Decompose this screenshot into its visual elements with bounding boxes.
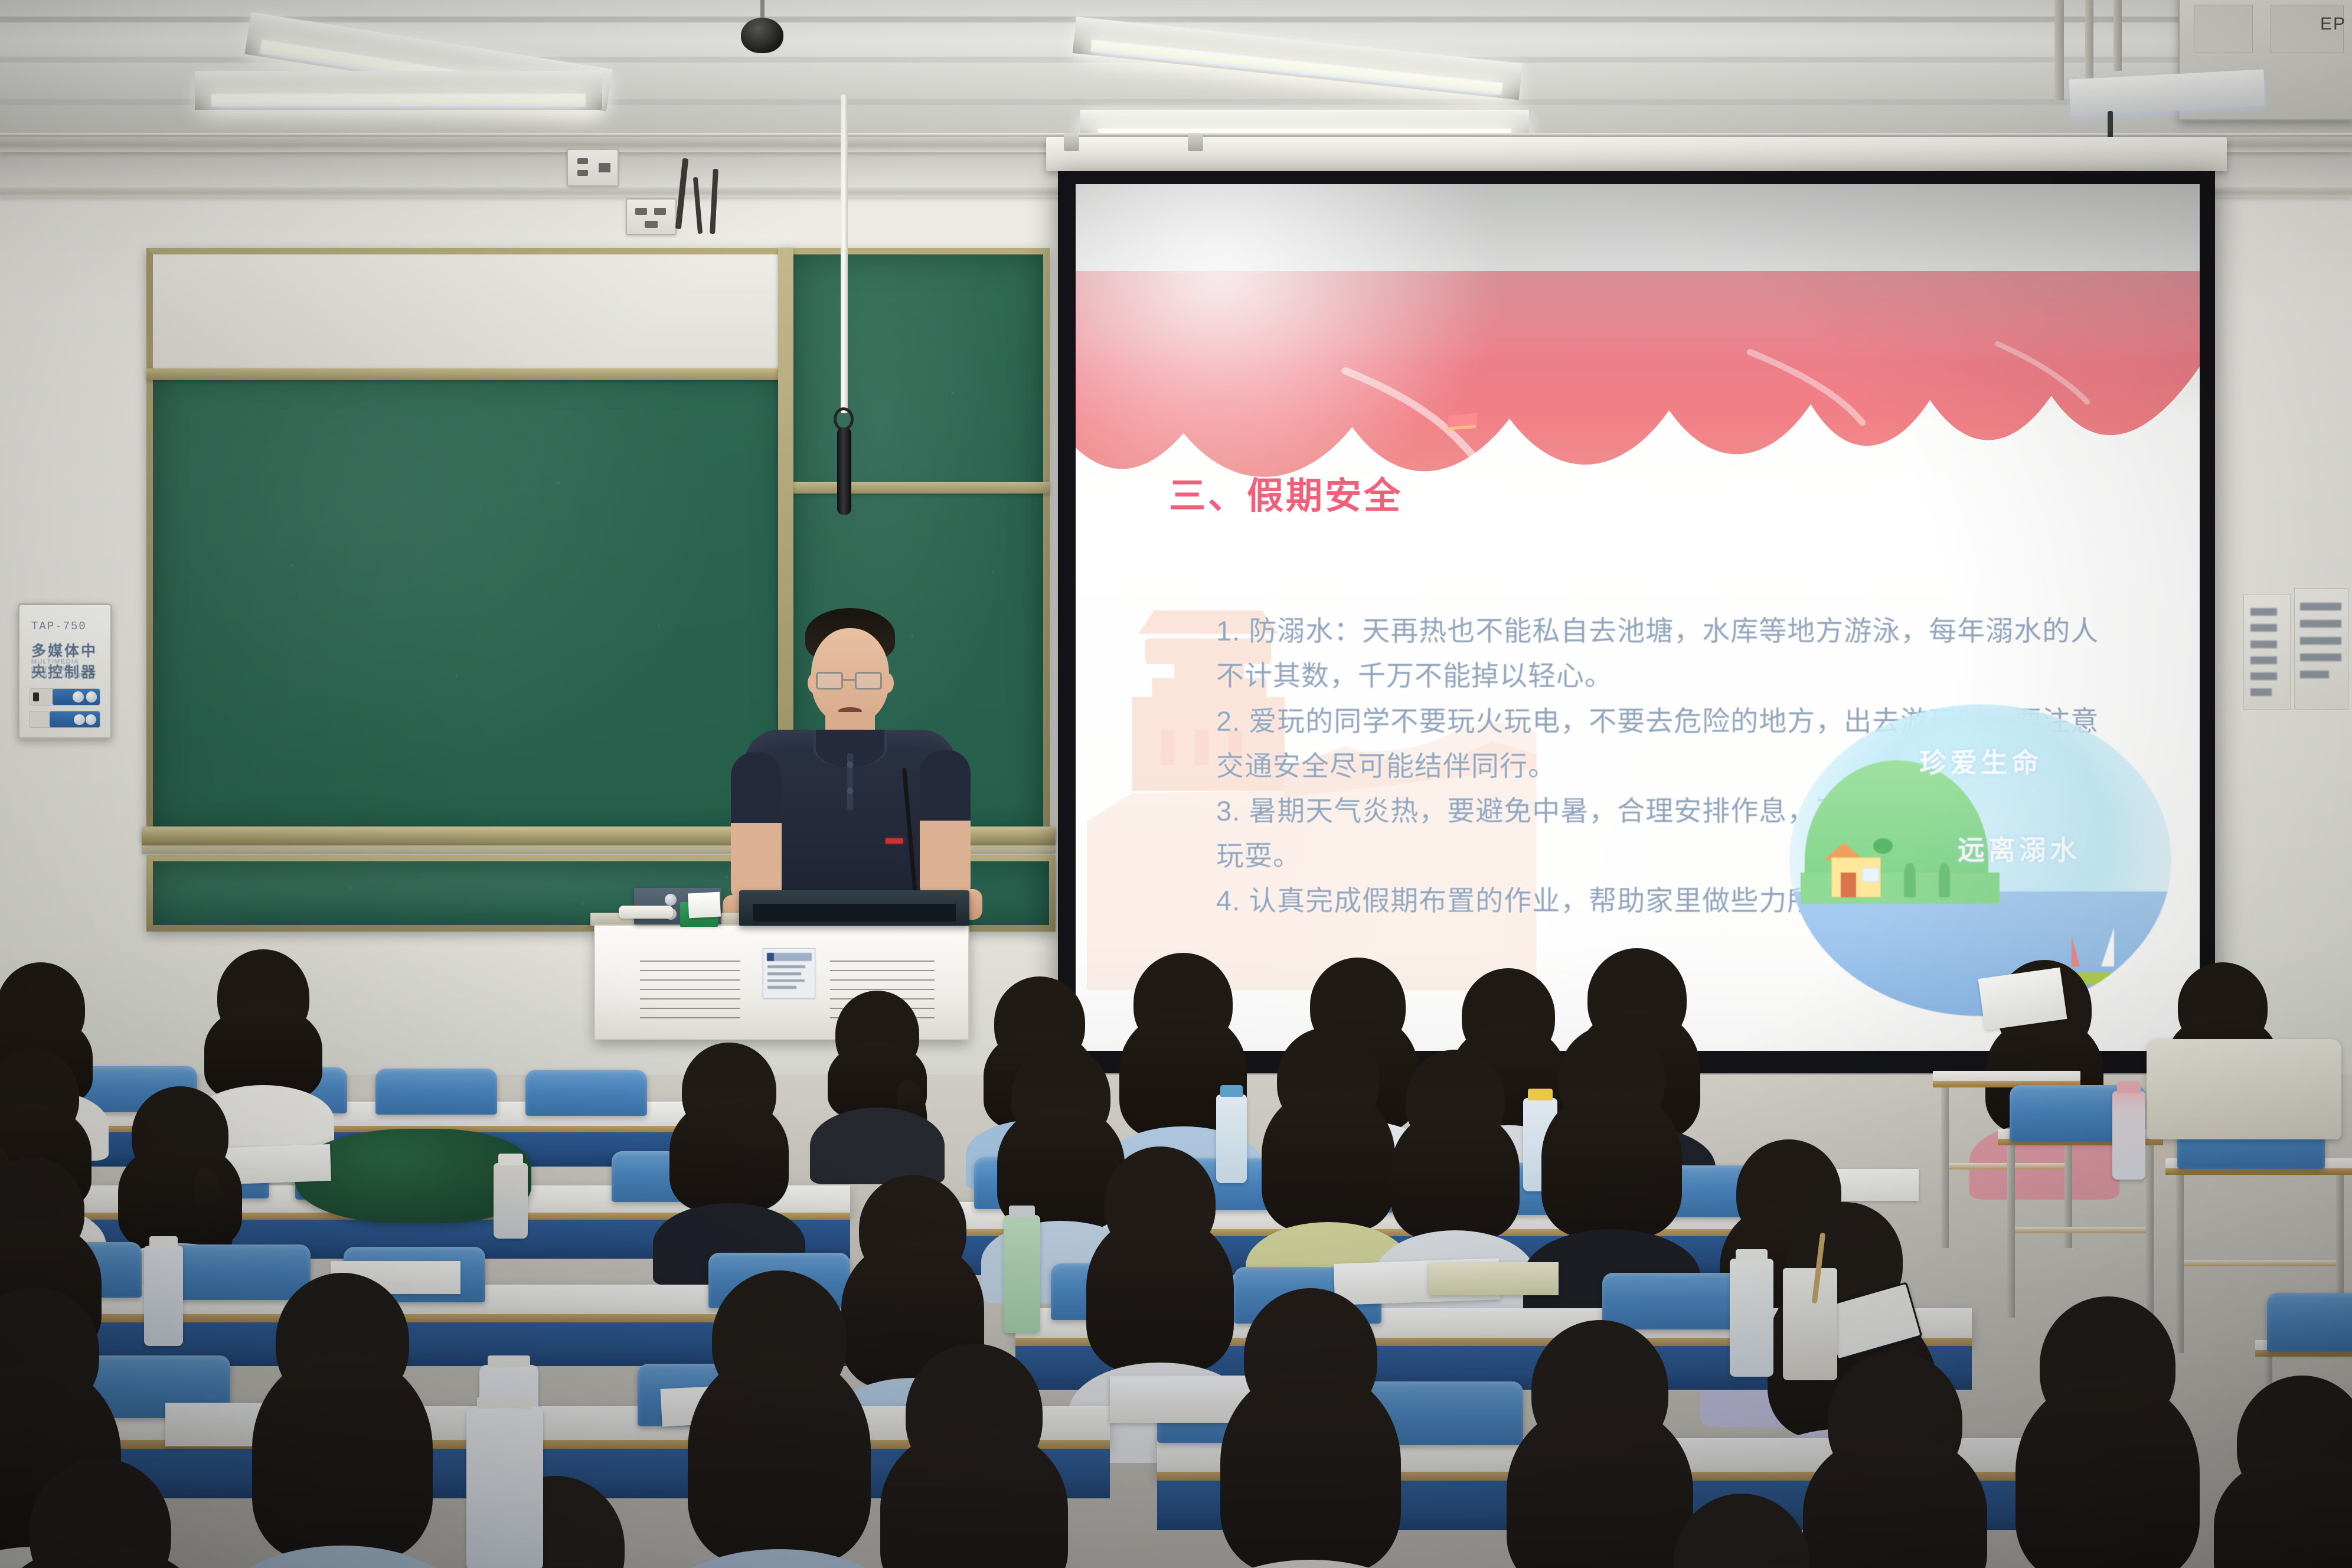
microphone-pole (841, 94, 848, 413)
board-divider (146, 368, 792, 380)
paper-card (688, 892, 721, 919)
screen-housing (1046, 137, 2227, 171)
eyeglasses (816, 672, 882, 690)
slide-body-line-2: 不计其数，千万不能掉以轻心。 (1216, 654, 2099, 698)
wall-notice-left (2243, 594, 2291, 710)
student (1193, 1288, 1429, 1568)
slide-title: 三、假期安全 (1169, 466, 1403, 519)
water-bottle (2112, 1091, 2145, 1180)
water-bottle (144, 1246, 183, 1346)
podium-monitor[interactable] (739, 890, 969, 926)
student (100, 1086, 260, 1263)
projector-brand-label: EP (2320, 14, 2346, 34)
board-eraser (619, 906, 673, 919)
chair[interactable] (375, 1069, 497, 1115)
water-bottle (494, 1163, 528, 1239)
student (1523, 1025, 1700, 1249)
multimedia-control-panel[interactable]: TAP-750 多媒体中央控制器 MULTIMEDIA CENTRAL CONT… (18, 603, 112, 739)
student (850, 1344, 1098, 1568)
control-panel-row-lower[interactable] (30, 711, 100, 728)
podium-asset-label (763, 948, 815, 998)
tote-bag (2147, 1039, 2341, 1139)
camera-mount (760, 0, 765, 20)
ceiling-light (195, 71, 602, 110)
control-panel-row-upper[interactable] (30, 688, 100, 705)
chair[interactable] (2267, 1293, 2352, 1352)
student (0, 1458, 224, 1568)
student (192, 949, 334, 1109)
chalkboard-left-upper (146, 248, 792, 374)
red-flag-icon (1446, 410, 1479, 433)
classroom-scene: TAP-750 多媒体中央控制器 MULTIMEDIA CENTRAL CONT… (0, 0, 2352, 1568)
control-panel-label-en: MULTIMEDIA CENTRAL CONTROLLER (31, 658, 110, 680)
student (2184, 1376, 2352, 1568)
badge-line-1: 珍爱生命 (1919, 741, 2042, 780)
wall-outlet[interactable] (567, 149, 619, 187)
wall-outlet[interactable] (626, 198, 677, 235)
hanging-microphone (837, 427, 851, 515)
security-camera-icon (741, 18, 783, 53)
ceiling-seam (0, 17, 2352, 22)
slide-body-line-1: 1. 防溺水：天再热也不能私自去池塘，水库等地方游泳，每年溺水的人 (1216, 609, 2099, 654)
student (224, 1273, 460, 1568)
board-divider (785, 482, 1050, 494)
water-bottle (466, 1406, 543, 1568)
thermos-bottle (1004, 1215, 1040, 1333)
presentation-slide: 三、假期安全 1. 防溺水：天再热也不能私自去池塘，水库等地方游泳，每年溺水的人… (1076, 184, 2200, 1051)
projector-mount-arm (2113, 0, 2122, 71)
water-bottle (1730, 1259, 1773, 1377)
wall-notice-right (2294, 588, 2348, 710)
projector-mount-arm (2054, 0, 2064, 100)
slide-curtain-decoration (1076, 271, 2200, 479)
projection-screen: 三、假期安全 1. 防溺水：天再热也不能私自去池塘，水库等地方游泳，每年溺水的人… (1076, 184, 2200, 1051)
student (812, 991, 942, 1132)
shirt-logo (886, 838, 903, 844)
student (1376, 1050, 1535, 1250)
projector-mount-arm (2085, 0, 2093, 89)
student (653, 1043, 805, 1226)
textbook (1429, 1262, 1559, 1295)
student (1629, 1494, 1854, 1568)
chair[interactable] (525, 1070, 647, 1116)
control-panel-model: TAP-750 (31, 620, 87, 633)
badge-line-2: 远离溺水 (1958, 829, 2080, 868)
